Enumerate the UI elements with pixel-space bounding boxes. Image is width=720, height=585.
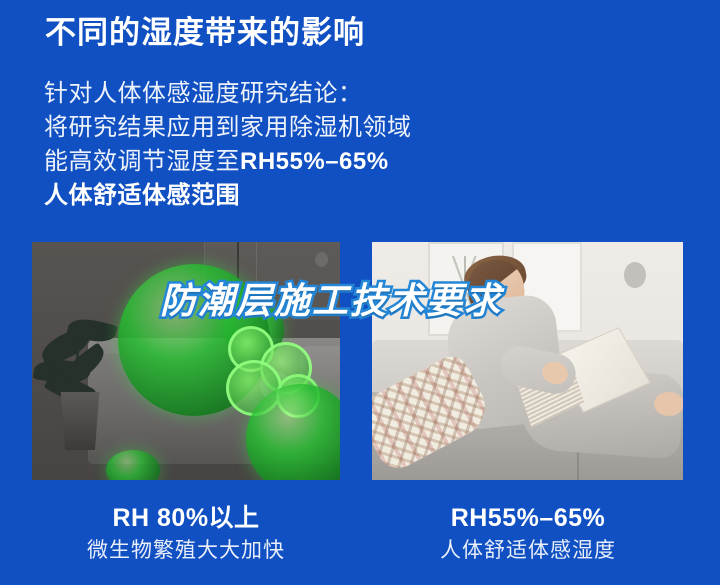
- paragraph-line-3-prefix: 能高效调节湿度至: [44, 148, 240, 175]
- poster-root: 不同的湿度带来的影响 针对人体体感湿度研究结论： 将研究结果应用到家用除湿机领域…: [0, 0, 720, 585]
- caption-title: RH55%–65%: [378, 503, 678, 533]
- caption-subtitle: 人体舒适体感湿度: [378, 536, 678, 566]
- page-title: 不同的湿度带来的影响: [45, 14, 365, 51]
- paragraph-line-3: 能高效调节湿度至RH55%–65%: [44, 145, 412, 179]
- paragraph-line-2: 将研究结果应用到家用除湿机领域: [44, 111, 412, 145]
- caption-subtitle: 微生物繁殖大大加快: [36, 536, 336, 566]
- wall-knob-icon: [315, 252, 328, 267]
- caption-high-humidity: RH 80%以上 微生物繁殖大大加快: [36, 503, 336, 566]
- plant-pot-icon: [58, 392, 102, 450]
- humidity-range-value: RH55%–65%: [240, 148, 389, 175]
- caption-title: RH 80%以上: [36, 503, 336, 533]
- intro-paragraph: 针对人体体感湿度研究结论： 将研究结果应用到家用除湿机领域 能高效调节湿度至RH…: [44, 77, 412, 213]
- wall-knob-icon: [624, 262, 646, 288]
- caption-comfort-humidity: RH55%–65% 人体舒适体感湿度: [378, 503, 678, 566]
- overlay-banner-text: 防潮层施工技术要求: [160, 272, 502, 324]
- paragraph-line-1: 针对人体体感湿度研究结论：: [44, 77, 412, 111]
- person-foot: [654, 392, 683, 416]
- paragraph-line-4: 人体舒适体感范围: [44, 179, 412, 213]
